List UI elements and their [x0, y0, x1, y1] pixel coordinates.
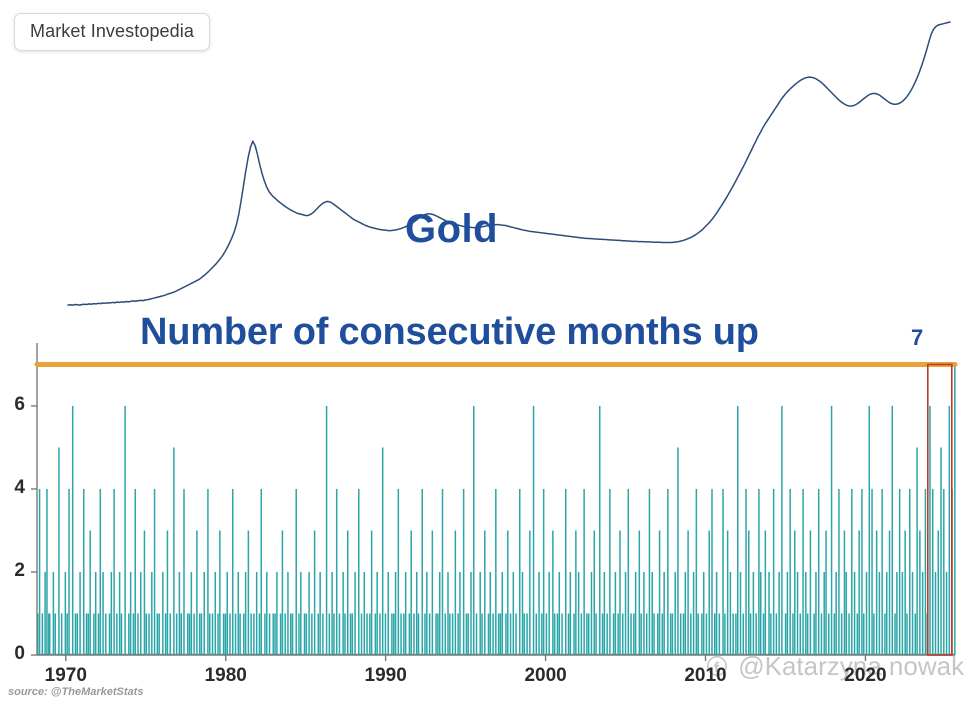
bar	[413, 613, 415, 655]
bar	[716, 572, 718, 655]
bar	[326, 406, 328, 655]
bar	[727, 530, 729, 655]
bar	[298, 613, 300, 655]
bar	[502, 572, 504, 655]
bar	[418, 613, 420, 655]
bar	[253, 613, 255, 655]
bar	[861, 489, 863, 655]
bar	[575, 530, 577, 655]
bar	[595, 613, 597, 655]
bar	[93, 613, 95, 655]
bar	[876, 530, 878, 655]
bar	[515, 613, 517, 655]
bar	[844, 530, 846, 655]
bar	[484, 530, 486, 655]
bar	[533, 406, 535, 655]
bar	[943, 489, 945, 655]
x-tick-label: 2000	[506, 665, 586, 687]
gold-consecutive-months-chart	[0, 0, 975, 710]
bar	[282, 530, 284, 655]
bar	[938, 530, 940, 655]
bar	[711, 489, 713, 655]
bar	[169, 613, 171, 655]
bar	[519, 489, 521, 655]
bar	[846, 572, 848, 655]
bar	[276, 572, 278, 655]
bar	[755, 613, 757, 655]
bar	[896, 572, 898, 655]
bar	[586, 613, 588, 655]
bar	[778, 572, 780, 655]
bar	[488, 613, 490, 655]
bar	[906, 613, 908, 655]
bar	[459, 572, 461, 655]
bar	[854, 572, 856, 655]
y-tick-label: 2	[1, 560, 25, 582]
bar	[510, 613, 512, 655]
bar	[810, 530, 812, 655]
bar	[802, 489, 804, 655]
bar	[366, 613, 368, 655]
bar	[140, 572, 142, 655]
bar	[319, 572, 321, 655]
bar	[193, 613, 195, 655]
bar	[72, 406, 74, 655]
bar	[42, 613, 44, 655]
x-tick-label: 1970	[26, 665, 106, 687]
bar	[239, 613, 241, 655]
bar	[557, 613, 559, 655]
bar	[529, 530, 531, 655]
bar	[834, 613, 836, 655]
bar	[559, 572, 561, 655]
bar	[457, 613, 459, 655]
bar	[89, 530, 91, 655]
bar	[884, 613, 886, 655]
bar	[318, 613, 320, 655]
bar	[677, 447, 679, 655]
bar	[724, 613, 726, 655]
bar	[633, 613, 635, 655]
x-tick-label: 1980	[186, 665, 266, 687]
bar	[151, 572, 153, 655]
bar	[238, 572, 240, 655]
bar	[203, 572, 205, 655]
bar	[347, 530, 349, 655]
bar	[583, 489, 585, 655]
bar	[770, 613, 772, 655]
bar	[828, 613, 830, 655]
bar	[787, 572, 789, 655]
bar	[813, 613, 815, 655]
bar	[86, 613, 88, 655]
x-tick-label: 2010	[666, 665, 746, 687]
bar	[792, 613, 794, 655]
bar	[264, 613, 266, 655]
bar	[379, 613, 381, 655]
bar	[674, 572, 676, 655]
bar	[490, 572, 492, 655]
bar	[581, 613, 583, 655]
bar	[352, 613, 354, 655]
bar	[869, 406, 871, 655]
bar	[858, 530, 860, 655]
bar	[148, 613, 150, 655]
bar	[308, 572, 310, 655]
bar	[863, 613, 865, 655]
bar	[841, 613, 843, 655]
bar	[79, 572, 81, 655]
bar	[599, 406, 601, 655]
bar	[543, 489, 545, 655]
screenshot-root: Market Investopedia Gold Number of conse…	[0, 0, 975, 710]
bar	[643, 572, 645, 655]
bar	[226, 572, 228, 655]
bar	[124, 406, 126, 655]
bar	[361, 613, 363, 655]
bar	[339, 613, 341, 655]
bar	[452, 613, 454, 655]
bar	[180, 613, 182, 655]
bar	[548, 572, 550, 655]
bar	[807, 613, 809, 655]
bar	[442, 489, 444, 655]
bar	[588, 613, 590, 655]
bar	[635, 572, 637, 655]
bar	[615, 572, 617, 655]
bar	[121, 613, 123, 655]
bar	[805, 572, 807, 655]
bar	[500, 613, 502, 655]
bar	[284, 613, 286, 655]
bar	[919, 530, 921, 655]
bar	[662, 613, 664, 655]
bar	[173, 447, 175, 655]
bar	[400, 613, 402, 655]
bar	[604, 572, 606, 655]
bar	[219, 530, 221, 655]
bar	[375, 613, 377, 655]
bar	[385, 613, 387, 655]
bar	[935, 572, 937, 655]
bar	[467, 613, 469, 655]
bar	[513, 572, 515, 655]
bar	[889, 530, 891, 655]
bar	[207, 489, 209, 655]
bar	[130, 572, 132, 655]
bar	[561, 613, 563, 655]
bar	[331, 572, 333, 655]
bar	[344, 613, 346, 655]
bar	[61, 613, 63, 655]
bar	[591, 572, 593, 655]
bar	[703, 572, 705, 655]
bar	[306, 613, 308, 655]
bar	[113, 489, 115, 655]
bar	[364, 572, 366, 655]
bar	[696, 489, 698, 655]
bar	[342, 572, 344, 655]
bar	[750, 613, 752, 655]
bar	[781, 406, 783, 655]
bar	[109, 613, 111, 655]
bar	[387, 572, 389, 655]
x-tick-label: 1990	[346, 665, 426, 687]
bar	[690, 613, 692, 655]
bar	[785, 613, 787, 655]
bar	[376, 572, 378, 655]
bar	[154, 489, 156, 655]
bar	[77, 613, 79, 655]
bar	[815, 572, 817, 655]
bar	[685, 572, 687, 655]
bar	[272, 613, 274, 655]
bar	[552, 530, 554, 655]
bar	[916, 447, 918, 655]
bar	[248, 530, 250, 655]
bar	[229, 613, 231, 655]
bar	[481, 613, 483, 655]
bar	[100, 489, 102, 655]
bar	[904, 530, 906, 655]
bar	[432, 530, 434, 655]
bar	[683, 613, 685, 655]
bar	[46, 489, 48, 655]
bar	[706, 613, 708, 655]
bar	[256, 572, 257, 655]
bar	[594, 530, 596, 655]
bar	[105, 613, 107, 655]
bar	[881, 489, 883, 655]
bar	[167, 530, 169, 655]
bar	[866, 572, 868, 655]
bar	[336, 489, 338, 655]
bar	[116, 613, 118, 655]
bar	[179, 572, 181, 655]
bar	[730, 572, 732, 655]
bar	[133, 613, 135, 655]
bar	[410, 530, 412, 655]
bar	[663, 572, 665, 655]
bar	[554, 613, 556, 655]
highlight-box	[928, 364, 952, 655]
bar	[243, 613, 245, 655]
bar	[68, 489, 70, 655]
bar	[157, 613, 159, 655]
bar	[311, 613, 313, 655]
bar	[929, 406, 931, 655]
bar	[818, 489, 820, 655]
bar	[215, 572, 217, 655]
bar	[538, 572, 540, 655]
bar	[250, 613, 252, 655]
bar	[398, 489, 400, 655]
bar	[225, 613, 227, 655]
bar	[259, 613, 261, 655]
bar	[403, 613, 405, 655]
bar	[851, 489, 853, 655]
bar	[382, 447, 384, 655]
bar	[266, 572, 268, 655]
bar	[183, 489, 185, 655]
bar	[66, 613, 68, 655]
bar	[524, 613, 526, 655]
bar	[416, 572, 418, 655]
bar	[879, 572, 881, 655]
bar	[568, 613, 570, 655]
bar	[630, 613, 632, 655]
bar	[578, 572, 580, 655]
bar	[565, 489, 567, 655]
bar	[295, 489, 297, 655]
bar	[763, 613, 765, 655]
bar	[444, 613, 446, 655]
bar	[606, 613, 608, 655]
bar	[821, 613, 823, 655]
bar	[146, 613, 148, 655]
bar	[619, 530, 621, 655]
bar	[892, 406, 894, 655]
bar	[128, 613, 130, 655]
gold-title: Gold	[405, 207, 498, 252]
bar	[437, 613, 439, 655]
bar	[526, 613, 528, 655]
bar	[393, 613, 395, 655]
bar	[53, 572, 55, 655]
bar	[838, 489, 840, 655]
bar	[165, 613, 167, 655]
source-badge[interactable]: Market Investopedia	[14, 13, 210, 51]
bar	[835, 572, 837, 655]
bar	[646, 613, 648, 655]
bar	[447, 572, 449, 655]
bar	[470, 572, 472, 655]
bar	[640, 613, 642, 655]
bar	[455, 530, 457, 655]
bar	[88, 613, 90, 655]
bar	[176, 613, 178, 655]
bar	[235, 613, 237, 655]
x-tick-label: 2020	[825, 665, 905, 687]
bar	[498, 613, 500, 655]
chart-svg	[0, 0, 975, 710]
bar	[602, 613, 604, 655]
bar	[765, 530, 767, 655]
bar	[421, 489, 423, 655]
bar	[522, 572, 524, 655]
bar	[449, 613, 451, 655]
bar	[245, 572, 247, 655]
bar	[651, 572, 653, 655]
bar	[789, 489, 791, 655]
bar	[463, 489, 465, 655]
bar	[670, 613, 672, 655]
bar	[476, 613, 478, 655]
bar	[98, 613, 100, 655]
bar	[162, 572, 164, 655]
bar	[473, 406, 475, 655]
bar	[659, 530, 661, 655]
bar	[280, 613, 282, 655]
bar	[776, 613, 778, 655]
bar	[708, 530, 710, 655]
bar	[274, 613, 276, 655]
bar	[201, 613, 203, 655]
bar	[693, 572, 695, 655]
bar	[743, 613, 745, 655]
bar	[290, 613, 292, 655]
bar	[871, 489, 873, 655]
bar	[609, 489, 611, 655]
bar	[322, 613, 324, 655]
bar	[223, 613, 225, 655]
bar	[687, 530, 689, 655]
bar	[304, 613, 306, 655]
bar	[58, 447, 60, 655]
bar	[800, 613, 802, 655]
bar	[625, 572, 627, 655]
bar	[371, 530, 373, 655]
bar	[111, 572, 113, 655]
bar	[409, 613, 411, 655]
bar	[748, 530, 750, 655]
bar	[932, 489, 934, 655]
bar	[269, 613, 271, 655]
bar	[732, 613, 734, 655]
bar	[358, 489, 360, 655]
bar	[628, 489, 630, 655]
bar	[794, 530, 796, 655]
gold-price-line	[68, 22, 950, 305]
bar	[102, 572, 104, 655]
bar	[158, 613, 160, 655]
bar	[333, 613, 335, 655]
bar	[909, 489, 911, 655]
bar	[797, 572, 799, 655]
bar	[940, 447, 942, 655]
y-tick-label: 4	[1, 477, 25, 499]
bar	[44, 572, 46, 655]
bar	[189, 613, 191, 655]
bar	[825, 530, 827, 655]
bar	[886, 572, 888, 655]
bar	[768, 572, 770, 655]
bar	[873, 613, 875, 655]
bar	[39, 489, 41, 655]
bar	[196, 530, 198, 655]
bar	[899, 489, 901, 655]
bar	[505, 613, 507, 655]
bar	[922, 572, 924, 655]
bar	[915, 613, 917, 655]
bar	[680, 613, 682, 655]
bar	[912, 572, 914, 655]
bar	[439, 572, 441, 655]
bar	[492, 613, 494, 655]
bar	[536, 613, 538, 655]
bar	[649, 489, 651, 655]
bar	[949, 406, 951, 655]
bar	[753, 572, 755, 655]
bar	[369, 613, 371, 655]
bar	[144, 530, 146, 655]
bar	[773, 489, 775, 655]
bar	[83, 489, 85, 655]
bar	[570, 572, 572, 655]
bar	[292, 613, 294, 655]
chart-subtitle: Number of consecutive months up	[140, 311, 759, 354]
bar	[95, 572, 97, 655]
